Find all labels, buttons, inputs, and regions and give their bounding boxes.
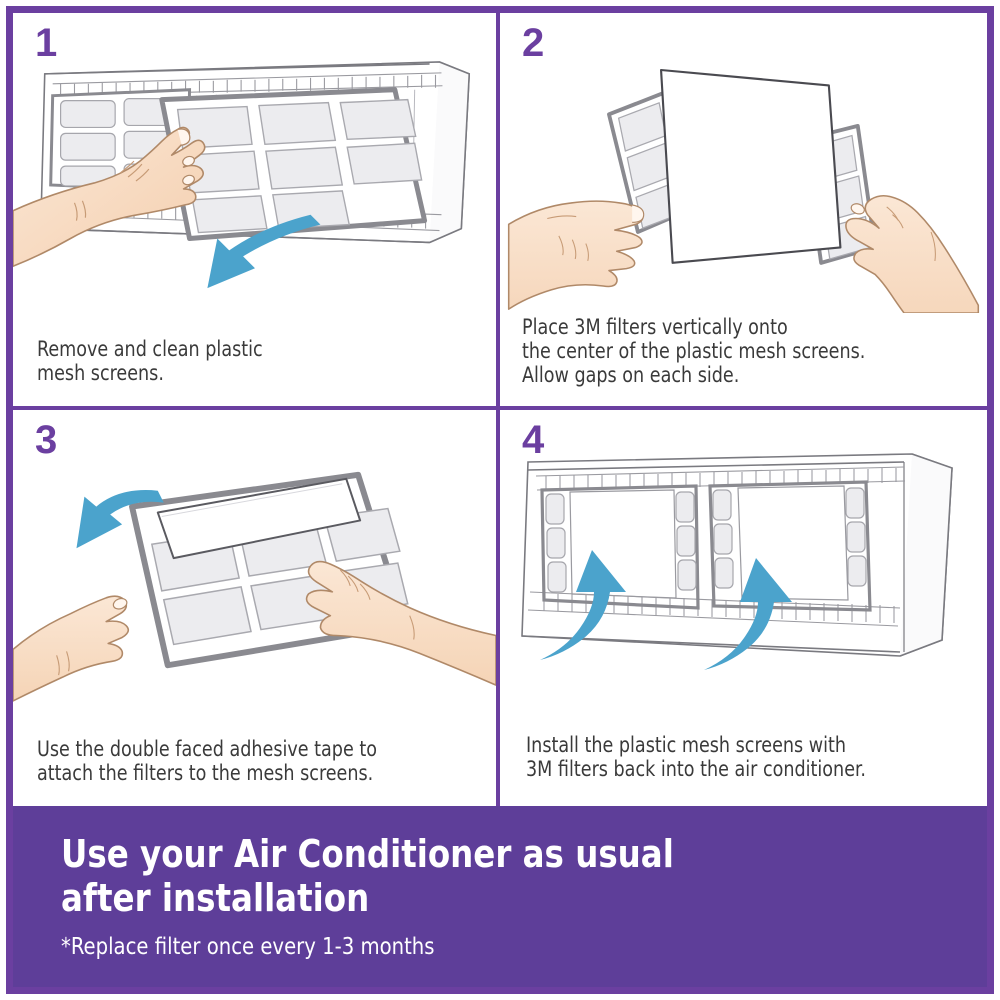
banner-headline: Use your Air Conditioner as usual after … (61, 832, 941, 920)
step-number-3: 3 (35, 420, 57, 460)
step-panel-3: 3 (13, 410, 500, 807)
ac-unit-with-installed-screens-airflow-illustration (500, 440, 987, 710)
ac-unit-remove-mesh-screen-illustration (13, 43, 496, 313)
bottom-banner: Use your Air Conditioner as usual after … (13, 806, 987, 987)
step-number-4: 4 (522, 420, 544, 460)
step-panel-4: 4 (500, 410, 987, 807)
step-number-2: 2 (522, 23, 544, 63)
step-caption-1: Remove and clean plastic mesh screens. (37, 338, 453, 386)
step-number-1: 1 (35, 23, 57, 63)
step-panel-1: 1 (13, 13, 500, 410)
step-caption-4: Install the plastic mesh screens with 3M… (526, 734, 944, 782)
step-caption-3: Use the double faced adhesive tape to at… (37, 738, 453, 786)
steps-grid: 1 (13, 13, 987, 806)
hands-attaching-filter-with-tape-illustration (13, 440, 496, 710)
step-panel-2: 2 (500, 13, 987, 410)
purple-frame-border: 1 (6, 6, 994, 994)
step-caption-2: Place 3M filters vertically onto the cen… (522, 316, 943, 388)
hands-holding-filter-over-mesh-screen-illustration (500, 43, 987, 313)
banner-subtext: *Replace filter once every 1-3 months (61, 934, 941, 962)
instruction-infographic: 1 (0, 0, 1000, 1000)
